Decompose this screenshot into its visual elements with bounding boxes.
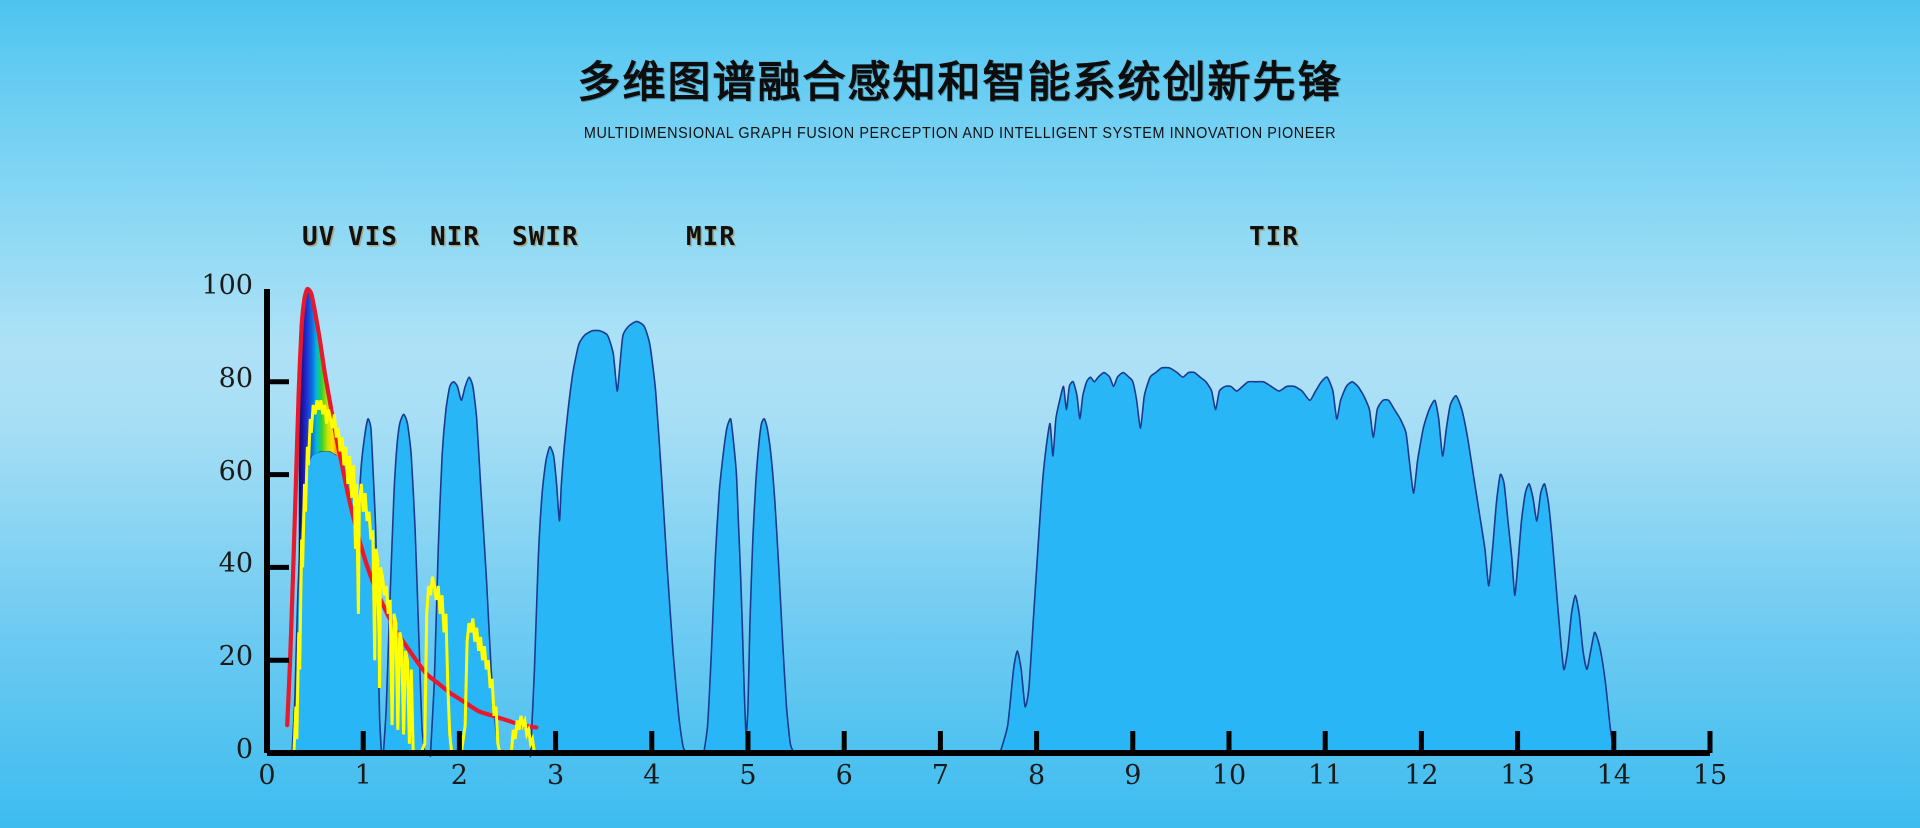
x-tick-label-10: 10 <box>1211 760 1247 791</box>
x-tick-label-7: 7 <box>922 760 958 791</box>
band-label-nir: NIR <box>430 222 480 252</box>
x-tick-label-11: 11 <box>1307 760 1343 791</box>
band-label-mir: MIR <box>686 222 736 252</box>
x-tick-label-8: 8 <box>1019 760 1055 791</box>
spectrum-chart <box>0 0 1920 828</box>
transmission-area <box>292 321 1614 756</box>
x-tick-label-13: 13 <box>1500 760 1536 791</box>
x-tick-label-1: 1 <box>345 760 381 791</box>
x-tick-label-6: 6 <box>826 760 862 791</box>
y-tick-label-60: 60 <box>191 456 253 487</box>
band-label-uv: UV <box>302 222 335 252</box>
y-tick-label-20: 20 <box>191 641 253 672</box>
band-label-tir: TIR <box>1249 222 1299 252</box>
x-tick-label-9: 9 <box>1115 760 1151 791</box>
x-tick-label-2: 2 <box>441 760 477 791</box>
x-tick-label-5: 5 <box>730 760 766 791</box>
band-label-vis: VIS <box>348 222 398 252</box>
transmission-band <box>1000 368 1614 755</box>
y-tick-label-80: 80 <box>191 363 253 394</box>
x-tick-label-0: 0 <box>249 760 285 791</box>
x-tick-label-3: 3 <box>538 760 574 791</box>
x-tick-label-4: 4 <box>634 760 670 791</box>
transmission-band <box>530 321 690 756</box>
band-label-swir: SWIR <box>512 222 579 252</box>
y-tick-label-40: 40 <box>191 548 253 579</box>
x-tick-label-15: 15 <box>1692 760 1728 791</box>
y-tick-label-0: 0 <box>191 734 253 765</box>
y-tick-label-100: 100 <box>191 270 253 301</box>
x-tick-label-14: 14 <box>1596 760 1632 791</box>
transmission-band <box>704 419 795 754</box>
x-tick-label-12: 12 <box>1403 760 1439 791</box>
